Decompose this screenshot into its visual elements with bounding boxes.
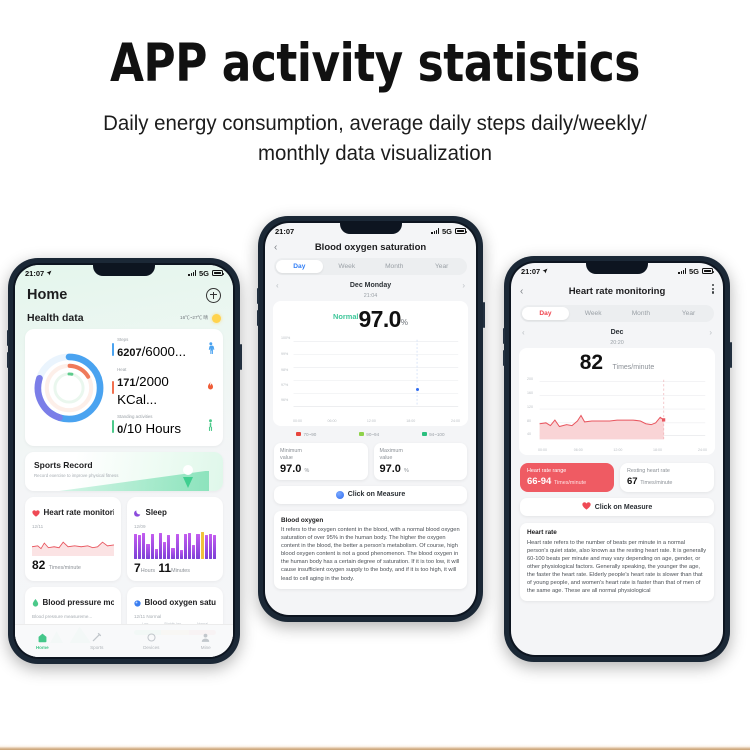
legend-item: 94~100 — [422, 432, 444, 437]
stat-label: Heat — [117, 367, 205, 373]
signal-icon — [188, 270, 196, 276]
chevron-left-icon[interactable]: ‹ — [274, 242, 286, 253]
x-tick-label: 12:00 — [613, 448, 622, 452]
resting-heart-rate-card: Resting heart rate 67 Times/minute — [620, 463, 714, 493]
legend-item: 90~94 — [359, 432, 379, 437]
article-title: Blood oxygen — [281, 517, 460, 524]
min-label-2: value — [280, 455, 362, 462]
heart-rate-article: Heart rate Heart rate refers to the numb… — [520, 523, 714, 601]
stat-value: 171 — [117, 377, 135, 389]
segment-day[interactable]: Day — [522, 307, 570, 321]
network-label: 5G — [199, 269, 209, 278]
range-unit: Times/minute — [554, 480, 586, 486]
legend-item: 70~90 — [296, 432, 316, 437]
activity-rings — [32, 351, 106, 425]
poster-header: APP activity statistics Daily energy con… — [0, 34, 750, 168]
resting-label: Resting heart rate — [627, 468, 707, 476]
app-bar: ‹ Heart rate monitoring — [511, 279, 723, 305]
x-tick-label: 00:00 — [538, 448, 547, 452]
page-title: Blood oxygen saturation — [286, 242, 455, 253]
segment-week[interactable]: Week — [569, 307, 617, 321]
tab-label: Mine — [179, 645, 234, 650]
current-date-label: Dec Monday — [350, 282, 391, 289]
stat-label: Standing activities — [117, 414, 205, 420]
circle-plus-icon[interactable] — [206, 288, 221, 303]
resting-unit: Times/minute — [640, 480, 672, 486]
heart-icon — [32, 504, 40, 522]
min-value: 97.0 — [280, 463, 301, 475]
legend-swatch — [359, 432, 364, 437]
notch — [93, 265, 155, 276]
y-tick-label: 97% — [281, 383, 288, 387]
reading-time: 20:20 — [511, 340, 723, 346]
volume-up-button[interactable] — [503, 328, 505, 344]
stat-accent-bar — [112, 420, 114, 433]
notch — [340, 223, 402, 234]
card-value-2: 11 — [158, 561, 171, 575]
x-tick-label: 24:00 — [451, 419, 460, 423]
home-header: Home — [15, 281, 233, 303]
y-tick-label: 120 — [527, 405, 533, 409]
volume-down-button[interactable] — [257, 310, 259, 326]
click-on-measure-button[interactable]: Click on Measure — [274, 486, 467, 504]
volume-up-button[interactable] — [7, 330, 9, 346]
card-value: 7 — [134, 561, 141, 575]
app-bar: ‹ Blood oxygen saturation — [265, 239, 476, 258]
card-title: Sleep — [146, 508, 167, 517]
stat-label: Steps — [117, 337, 205, 343]
standing-person-icon — [205, 419, 216, 434]
power-button[interactable] — [483, 302, 485, 328]
page-title: Heart rate monitoring — [532, 286, 702, 297]
prev-date-button[interactable]: ‹ — [522, 328, 525, 337]
reading-panel: 82 Times/minute — [519, 348, 715, 455]
page-title: APP activity statistics — [30, 34, 720, 94]
stat-standing: Standing activities 0/10 Hours — [112, 414, 216, 438]
home-title-label: Home — [27, 287, 67, 303]
sports-icon — [70, 632, 125, 643]
legend-swatch — [422, 432, 427, 437]
heart-icon — [582, 502, 591, 512]
y-tick-label: 98% — [281, 368, 288, 372]
volume-down-button[interactable] — [503, 350, 505, 366]
reading-panel: Normal97.0% 100% 99% — [273, 301, 468, 426]
card-unit: Times/minute — [49, 565, 81, 571]
y-tick-label: 96% — [281, 398, 288, 402]
mini-card-row-1: Heart rate monitoring 12/11 82 Times/min… — [25, 497, 223, 581]
chevron-left-icon[interactable]: ‹ — [520, 286, 532, 297]
minimum-value-card: Minimum value 97.0 % — [274, 443, 368, 480]
date-navigator: ‹ Dec Monday › — [265, 275, 476, 290]
card-value: 82 — [32, 558, 45, 572]
droplet-blue-icon — [134, 594, 141, 612]
home-icon — [15, 632, 70, 643]
reading-value: 97.0 — [358, 306, 400, 332]
stat-accent-bar — [112, 381, 114, 394]
min-label-1: Minimum — [280, 448, 362, 455]
card-date: 12/09 — [134, 524, 216, 529]
status-time: 21:07 — [521, 267, 540, 276]
y-tick-label: 100% — [281, 336, 290, 340]
legend-swatch — [296, 432, 301, 437]
card-date: 12/11 Normal — [134, 614, 216, 619]
tab-sports[interactable]: Sports — [70, 632, 125, 650]
sleep-bar-chart — [134, 532, 216, 559]
heart-rate-range-card: Heart rate range 66-94 Times/minute — [520, 463, 614, 493]
sports-record-card[interactable]: Sports Record Record exercise to improve… — [25, 452, 223, 491]
blood-oxygen-chart[interactable]: 100% 99% 98% 97% 96% 00:00 06:00 12:00 1… — [281, 336, 460, 422]
moon-icon — [134, 504, 142, 522]
article-title: Heart rate — [527, 529, 707, 536]
reading-row: Normal97.0% — [273, 306, 468, 333]
segment-day[interactable]: Day — [276, 260, 323, 274]
x-tick-label: 18:00 — [653, 448, 662, 452]
legend-label: 70~90 — [303, 432, 316, 437]
tab-label: Home — [15, 645, 70, 650]
x-tick-label: 06:00 — [328, 419, 337, 423]
click-on-measure-button[interactable]: Click on Measure — [520, 498, 714, 516]
droplet-green-icon — [32, 594, 39, 612]
walking-person-icon — [205, 342, 216, 357]
measure-button-label: Click on Measure — [348, 491, 406, 498]
sun-icon — [212, 314, 221, 323]
card-title: Blood pressure monitoring — [43, 598, 115, 607]
x-tick-label: 24:00 — [698, 448, 707, 452]
signal-icon — [678, 268, 686, 274]
reading-time: 21:04 — [265, 293, 476, 299]
legend-label: 90~94 — [366, 432, 379, 437]
segment-month[interactable]: Month — [617, 307, 665, 321]
battery-icon — [702, 268, 713, 274]
network-label: 5G — [442, 227, 452, 236]
health-stat-list: Steps 6207/6000... Heat — [106, 337, 216, 438]
resting-value: 67 — [627, 476, 638, 487]
status-time: 21:07 — [25, 269, 44, 278]
article-body: It refers to the oxygen content in the b… — [281, 526, 460, 583]
x-tick-label: 18:00 — [406, 419, 415, 423]
card-date: 12/11 — [32, 524, 114, 529]
reading-row: 82 Times/minute — [519, 351, 715, 375]
stat-accent-bar — [112, 343, 114, 356]
status-time: 21:07 — [275, 227, 294, 236]
range-label: Heart rate range — [527, 468, 607, 476]
next-date-button[interactable]: › — [709, 328, 712, 337]
stat-heat: Heat 171/2000 KCal... — [112, 367, 216, 409]
person-icon — [179, 632, 234, 643]
x-tick-label: 12:00 — [367, 419, 376, 423]
reading-unit: Times/minute — [613, 364, 655, 371]
floor-strip — [0, 744, 750, 750]
range-value: 66-94 — [527, 476, 551, 487]
period-segmented-control: Day Week Month Year — [274, 258, 467, 275]
more-vertical-icon[interactable] — [702, 282, 714, 300]
reading-unit: % — [401, 318, 408, 327]
card-heart-rate[interactable]: Heart rate monitoring 12/11 82 Times/min… — [25, 497, 121, 581]
health-data-row: Health data 16℃~27℃ 晴 — [15, 303, 233, 329]
poster-page: APP activity statistics Daily energy con… — [0, 0, 750, 750]
min-max-cards: Minimum value 97.0 % Maximum value 97.0 … — [274, 443, 467, 480]
min-unit: % — [304, 468, 309, 474]
stat-unit: /6000... — [142, 344, 186, 359]
phone-right: 21:07 5G ‹ Heart rate monitoring Day — [504, 256, 730, 662]
y-tick-label: 200 — [527, 377, 533, 381]
current-date-label: Dec — [611, 329, 624, 336]
stat-steps: Steps 6207/6000... — [112, 337, 216, 361]
tab-devices[interactable]: Devices — [124, 632, 179, 650]
oxygen-droplet-icon — [336, 491, 344, 499]
status-badge: Normal — [333, 312, 358, 321]
bottom-tab-bar: Home Sports Devices — [15, 624, 233, 657]
segment-year[interactable]: Year — [665, 307, 713, 321]
segment-year[interactable]: Year — [418, 260, 465, 274]
tab-home[interactable]: Home — [15, 632, 70, 650]
card-unit-2: Minutes — [171, 568, 190, 574]
period-segmented-control: Day Week Month Year — [520, 305, 714, 322]
next-date-button[interactable]: › — [462, 281, 465, 290]
max-value: 97.0 — [380, 463, 401, 475]
y-tick-label: 80 — [527, 419, 531, 423]
date-navigator: ‹ Dec › — [511, 322, 723, 337]
blood-oxygen-article: Blood oxygen It refers to the oxygen con… — [274, 511, 467, 589]
data-point-marker — [416, 388, 419, 391]
battery-icon — [455, 228, 466, 234]
tab-label: Devices — [124, 645, 179, 650]
weather-label: 16℃~27℃ 晴 — [180, 315, 208, 321]
article-body: Heart rate refers to the number of beats… — [527, 539, 707, 596]
tab-mine[interactable]: Mine — [179, 632, 234, 650]
notch — [586, 263, 648, 274]
card-unit: Hours — [141, 568, 155, 574]
measure-button-label: Click on Measure — [595, 504, 653, 511]
location-pin-icon — [175, 457, 201, 487]
max-label-1: Maximum — [380, 448, 462, 455]
device-icon — [124, 632, 179, 643]
signal-icon — [431, 228, 439, 234]
card-sleep[interactable]: Sleep 12/09 7Hours 11Minutes — [127, 497, 223, 581]
max-label-2: value — [380, 455, 462, 462]
card-subtitle: Blood pressure measureme... — [32, 614, 114, 619]
y-tick-label: 160 — [527, 391, 533, 395]
health-data-label: Health data — [27, 312, 84, 324]
power-button[interactable] — [240, 344, 242, 370]
y-tick-label: 99% — [281, 352, 288, 356]
card-title: Heart rate monitoring — [44, 508, 115, 517]
x-tick-label: 00:00 — [293, 419, 302, 423]
flame-icon — [205, 381, 216, 395]
heart-rate-sparkline — [32, 532, 114, 556]
x-tick-label: 06:00 — [574, 448, 583, 452]
card-title: Blood oxygen saturation — [145, 598, 217, 607]
battery-icon — [212, 270, 223, 276]
location-arrow-icon — [542, 268, 548, 274]
legend-label: 94~100 — [429, 432, 444, 437]
home-screen: 21:07 5G Home Healt — [15, 265, 233, 657]
chart-legend: 70~90 90~94 94~100 — [265, 426, 476, 437]
power-button[interactable] — [730, 342, 732, 368]
heart-rate-summary-cards: Heart rate range 66-94 Times/minute Rest… — [520, 463, 714, 493]
tab-label: Sports — [70, 645, 125, 650]
location-arrow-icon — [46, 270, 52, 276]
y-tick-label: 40 — [527, 432, 531, 436]
reading-value: 82 — [580, 351, 603, 374]
volume-down-button[interactable] — [7, 352, 9, 368]
phone-left: 21:07 5G Home Healt — [8, 258, 240, 664]
volume-up-button[interactable] — [257, 288, 259, 304]
heart-rate-chart[interactable]: 200 160 120 80 40 00:00 06:00 12:00 18:0… — [527, 377, 707, 451]
stat-unit: /10 Hours — [123, 421, 181, 436]
max-unit: % — [404, 468, 409, 474]
phone-mid: 21:07 5G ‹ Blood oxygen saturation Day W… — [258, 216, 483, 622]
prev-date-button[interactable]: ‹ — [276, 281, 279, 290]
segment-month[interactable]: Month — [371, 260, 418, 274]
maximum-value-card: Maximum value 97.0 % — [374, 443, 468, 480]
page-subtitle: Daily energy consumption, average daily … — [71, 108, 679, 168]
segment-week[interactable]: Week — [323, 260, 370, 274]
network-label: 5G — [689, 267, 699, 276]
stat-value: 6207 — [117, 347, 141, 359]
health-data-card[interactable]: Steps 6207/6000... Heat — [25, 329, 223, 446]
